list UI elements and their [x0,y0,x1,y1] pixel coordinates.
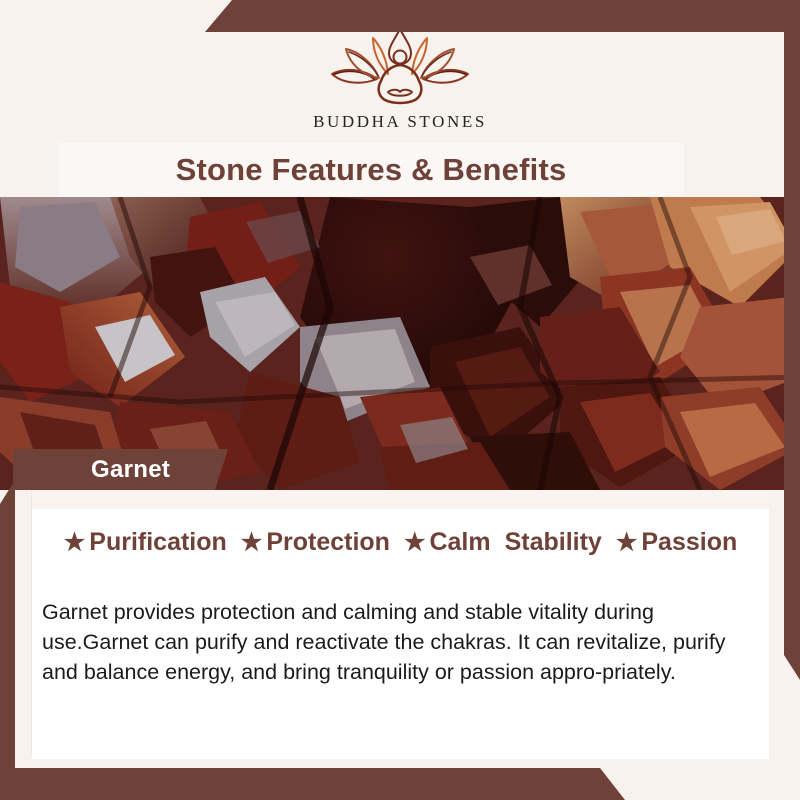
frame-corner-bottom-left [0,768,800,800]
stone-description: Garnet provides protection and calming a… [42,597,760,687]
benefit-item: ★ Protection [241,528,390,557]
garnet-photo [0,197,800,490]
brand-logo-block: BUDDHA STONES [0,26,800,132]
benefit-label: Purification [89,528,227,557]
frame-edge-left [0,480,15,800]
benefit-item: ★ Passion [616,528,737,557]
poster-canvas: BUDDHA STONES [0,0,800,800]
stone-name-tag: Garnet [13,449,228,490]
page-title: Stone Features & Benefits [176,152,567,188]
description-card: ★ Purification ★ Protection ★ Calm ★ Sta… [32,509,769,759]
star-icon: ★ [241,531,263,555]
benefit-item: ★ Stability [505,528,602,557]
stone-name-label: Garnet [13,456,170,484]
benefit-label: Stability [505,528,602,557]
benefits-row: ★ Purification ★ Protection ★ Calm ★ Sta… [32,528,769,557]
frame-edge-right [784,0,800,680]
benefit-label: Calm [429,528,490,557]
star-icon: ★ [404,531,426,555]
star-icon: ★ [616,531,638,555]
benefit-item: ★ Purification [64,528,227,557]
title-banner: Stone Features & Benefits [58,143,684,197]
benefit-item: ★ Calm [404,528,491,557]
body-top-strip [32,490,769,509]
benefit-label: Protection [266,528,390,557]
brand-name: BUDDHA STONES [0,112,800,132]
benefit-label: Passion [641,528,737,557]
star-icon: ★ [64,531,86,555]
lotus-meditation-icon [325,26,475,108]
